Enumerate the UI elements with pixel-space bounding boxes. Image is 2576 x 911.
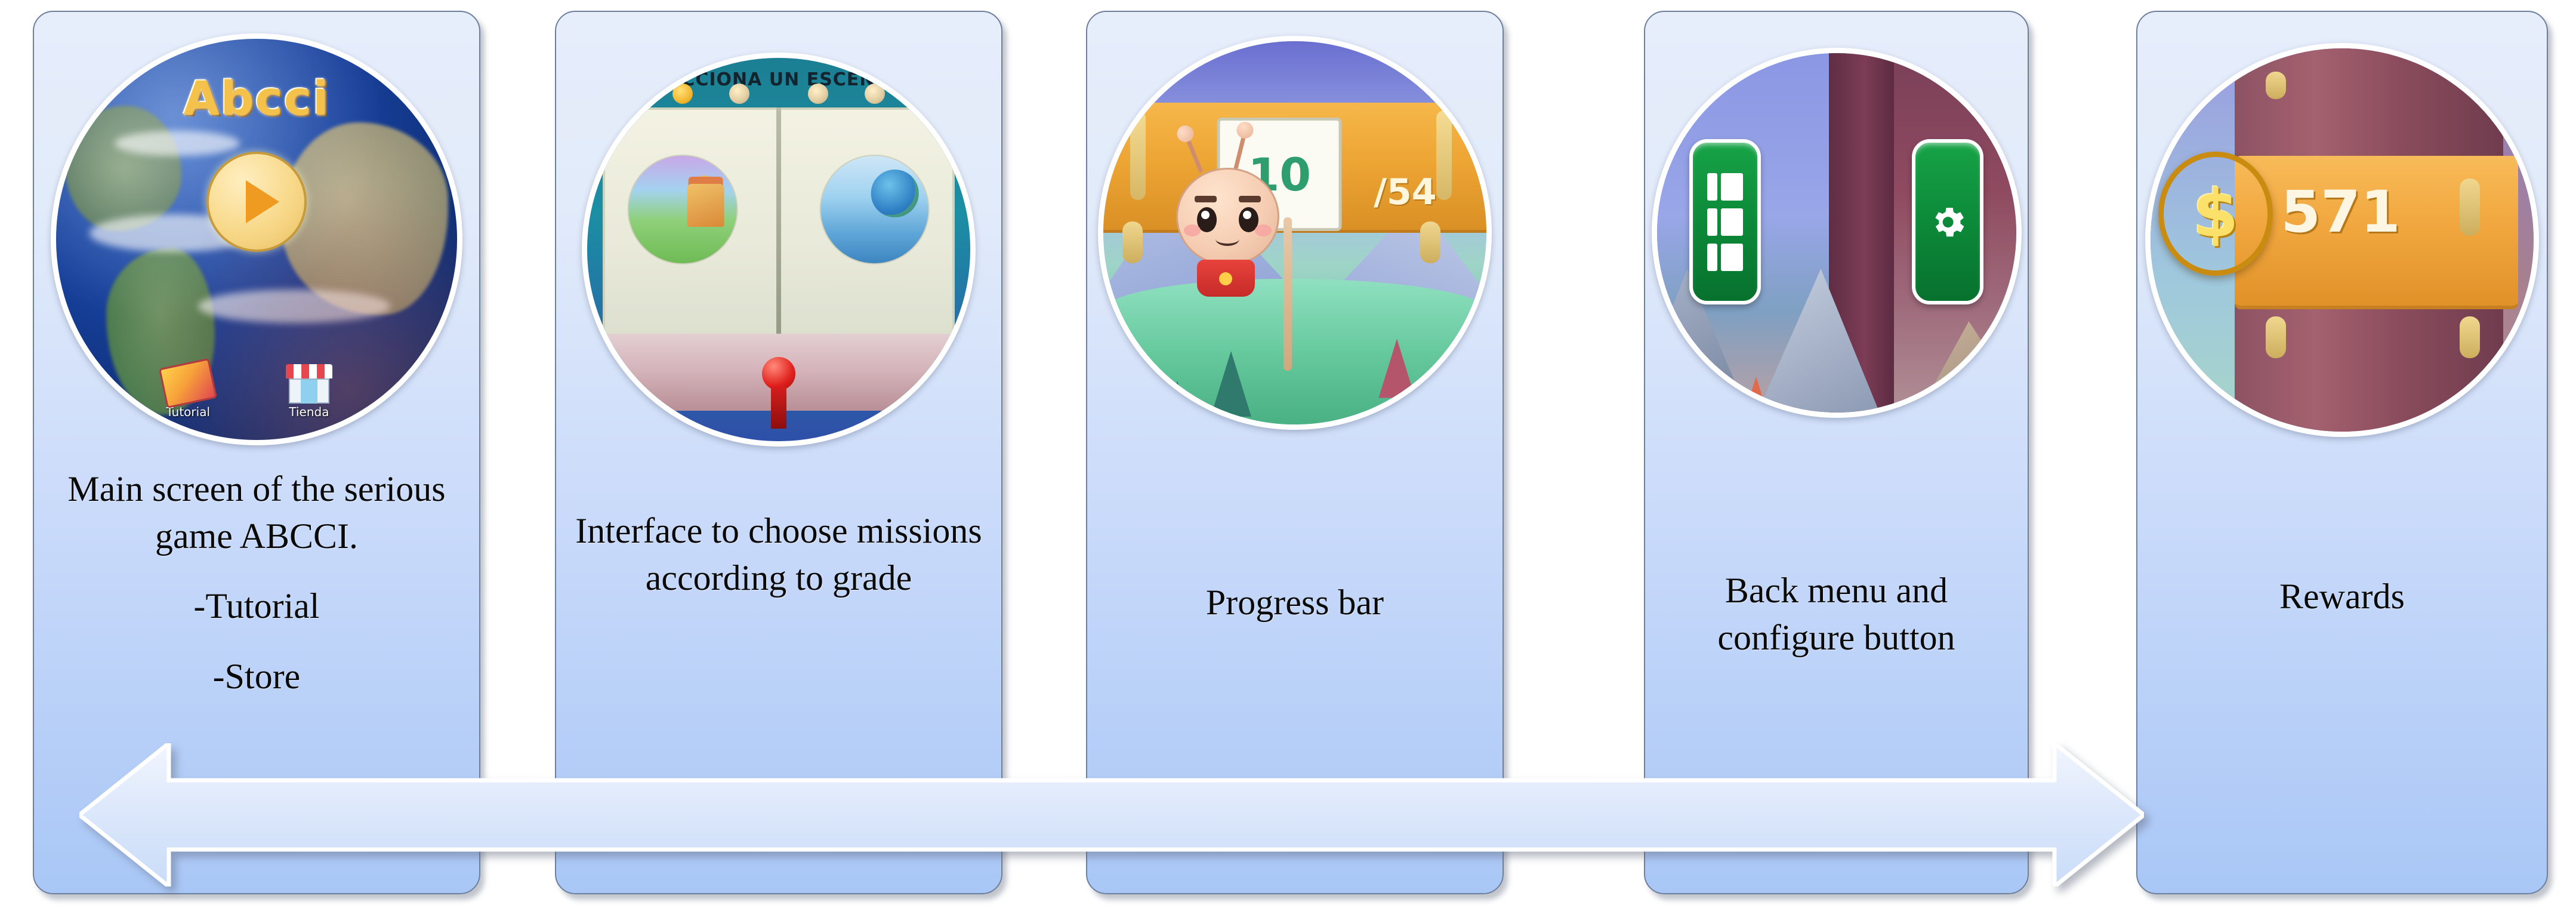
thumbnail-main-screen: Abcci Tutorial Tienda — [51, 33, 462, 445]
tutorial-book-icon — [159, 358, 217, 408]
star-rating-left — [599, 84, 767, 104]
double-headed-arrow — [79, 743, 2144, 887]
game-logo: Abcci — [183, 72, 329, 126]
progress-total-value: /54 — [1374, 171, 1436, 213]
scenario-thumb-soil — [628, 155, 738, 265]
rewards-art: 571 $ — [2151, 48, 2534, 432]
panel-rewards[interactable]: 571 $ Rewards — [2136, 11, 2548, 894]
caption-item-store: -Store — [45, 653, 468, 700]
coin-amount: 571 — [2281, 178, 2400, 245]
caption-mission-select: Interface to choose missions according t… — [556, 507, 1001, 602]
diagram-canvas: Abcci Tutorial Tienda — [0, 0, 2576, 911]
caption-main-screen: Main screen of the serious game ABCCI. -… — [34, 466, 479, 700]
play-triangle-icon[interactable] — [206, 152, 307, 252]
configure-button[interactable] — [1912, 139, 1983, 304]
gear-icon — [1928, 173, 1968, 271]
globe-graphic: Abcci Tutorial Tienda — [56, 39, 457, 440]
scenario-thumb-glacier — [819, 155, 930, 265]
book-ribbon-seal — [762, 357, 795, 429]
caption-progress-bar: Progress bar — [1087, 579, 1503, 626]
shortcut-store[interactable]: Tienda — [282, 364, 337, 419]
game-main-menu-art: Abcci Tutorial Tienda — [56, 39, 457, 440]
caption-text: Rewards — [2279, 577, 2405, 616]
caption-text: Progress bar — [1206, 583, 1384, 622]
caption-rewards: Rewards — [2137, 573, 2547, 620]
store-label: Tienda — [282, 405, 337, 419]
open-book-art: SELECCIONA UN ESCENARIO Degradación de s… — [587, 58, 970, 441]
star-rating-right — [790, 84, 958, 104]
thumbnail-rewards: 571 $ — [2145, 43, 2539, 437]
control-buttons-art — [1657, 53, 2016, 413]
caption-back-menu-configure: Back menu and configure button — [1645, 567, 2028, 661]
dollar-coin-icon: $ — [2158, 152, 2273, 276]
back-menu-button[interactable] — [1689, 139, 1761, 304]
thumbnail-back-menu-configure — [1652, 48, 2022, 418]
thumbnail-mission-select: SELECCIONA UN ESCENARIO Degradación de s… — [582, 53, 976, 447]
caption-text: Interface to choose missions according t… — [575, 511, 982, 598]
caption-item-tutorial: -Tutorial — [45, 583, 468, 630]
bug-mascot-icon — [1176, 168, 1276, 297]
shortcut-tutorial[interactable]: Tutorial — [161, 363, 215, 419]
caption-text: Back menu and configure button — [1717, 571, 1955, 657]
store-shop-icon — [286, 364, 332, 404]
thumbnail-progress-bar: 10 /54 — [1098, 36, 1492, 430]
menu-list-icon — [1707, 173, 1744, 271]
caption-text: Main screen of the serious game ABCCI. — [67, 469, 445, 556]
progress-bar-art: 10 /54 — [1103, 41, 1486, 424]
currency-symbol: $ — [2193, 176, 2239, 252]
